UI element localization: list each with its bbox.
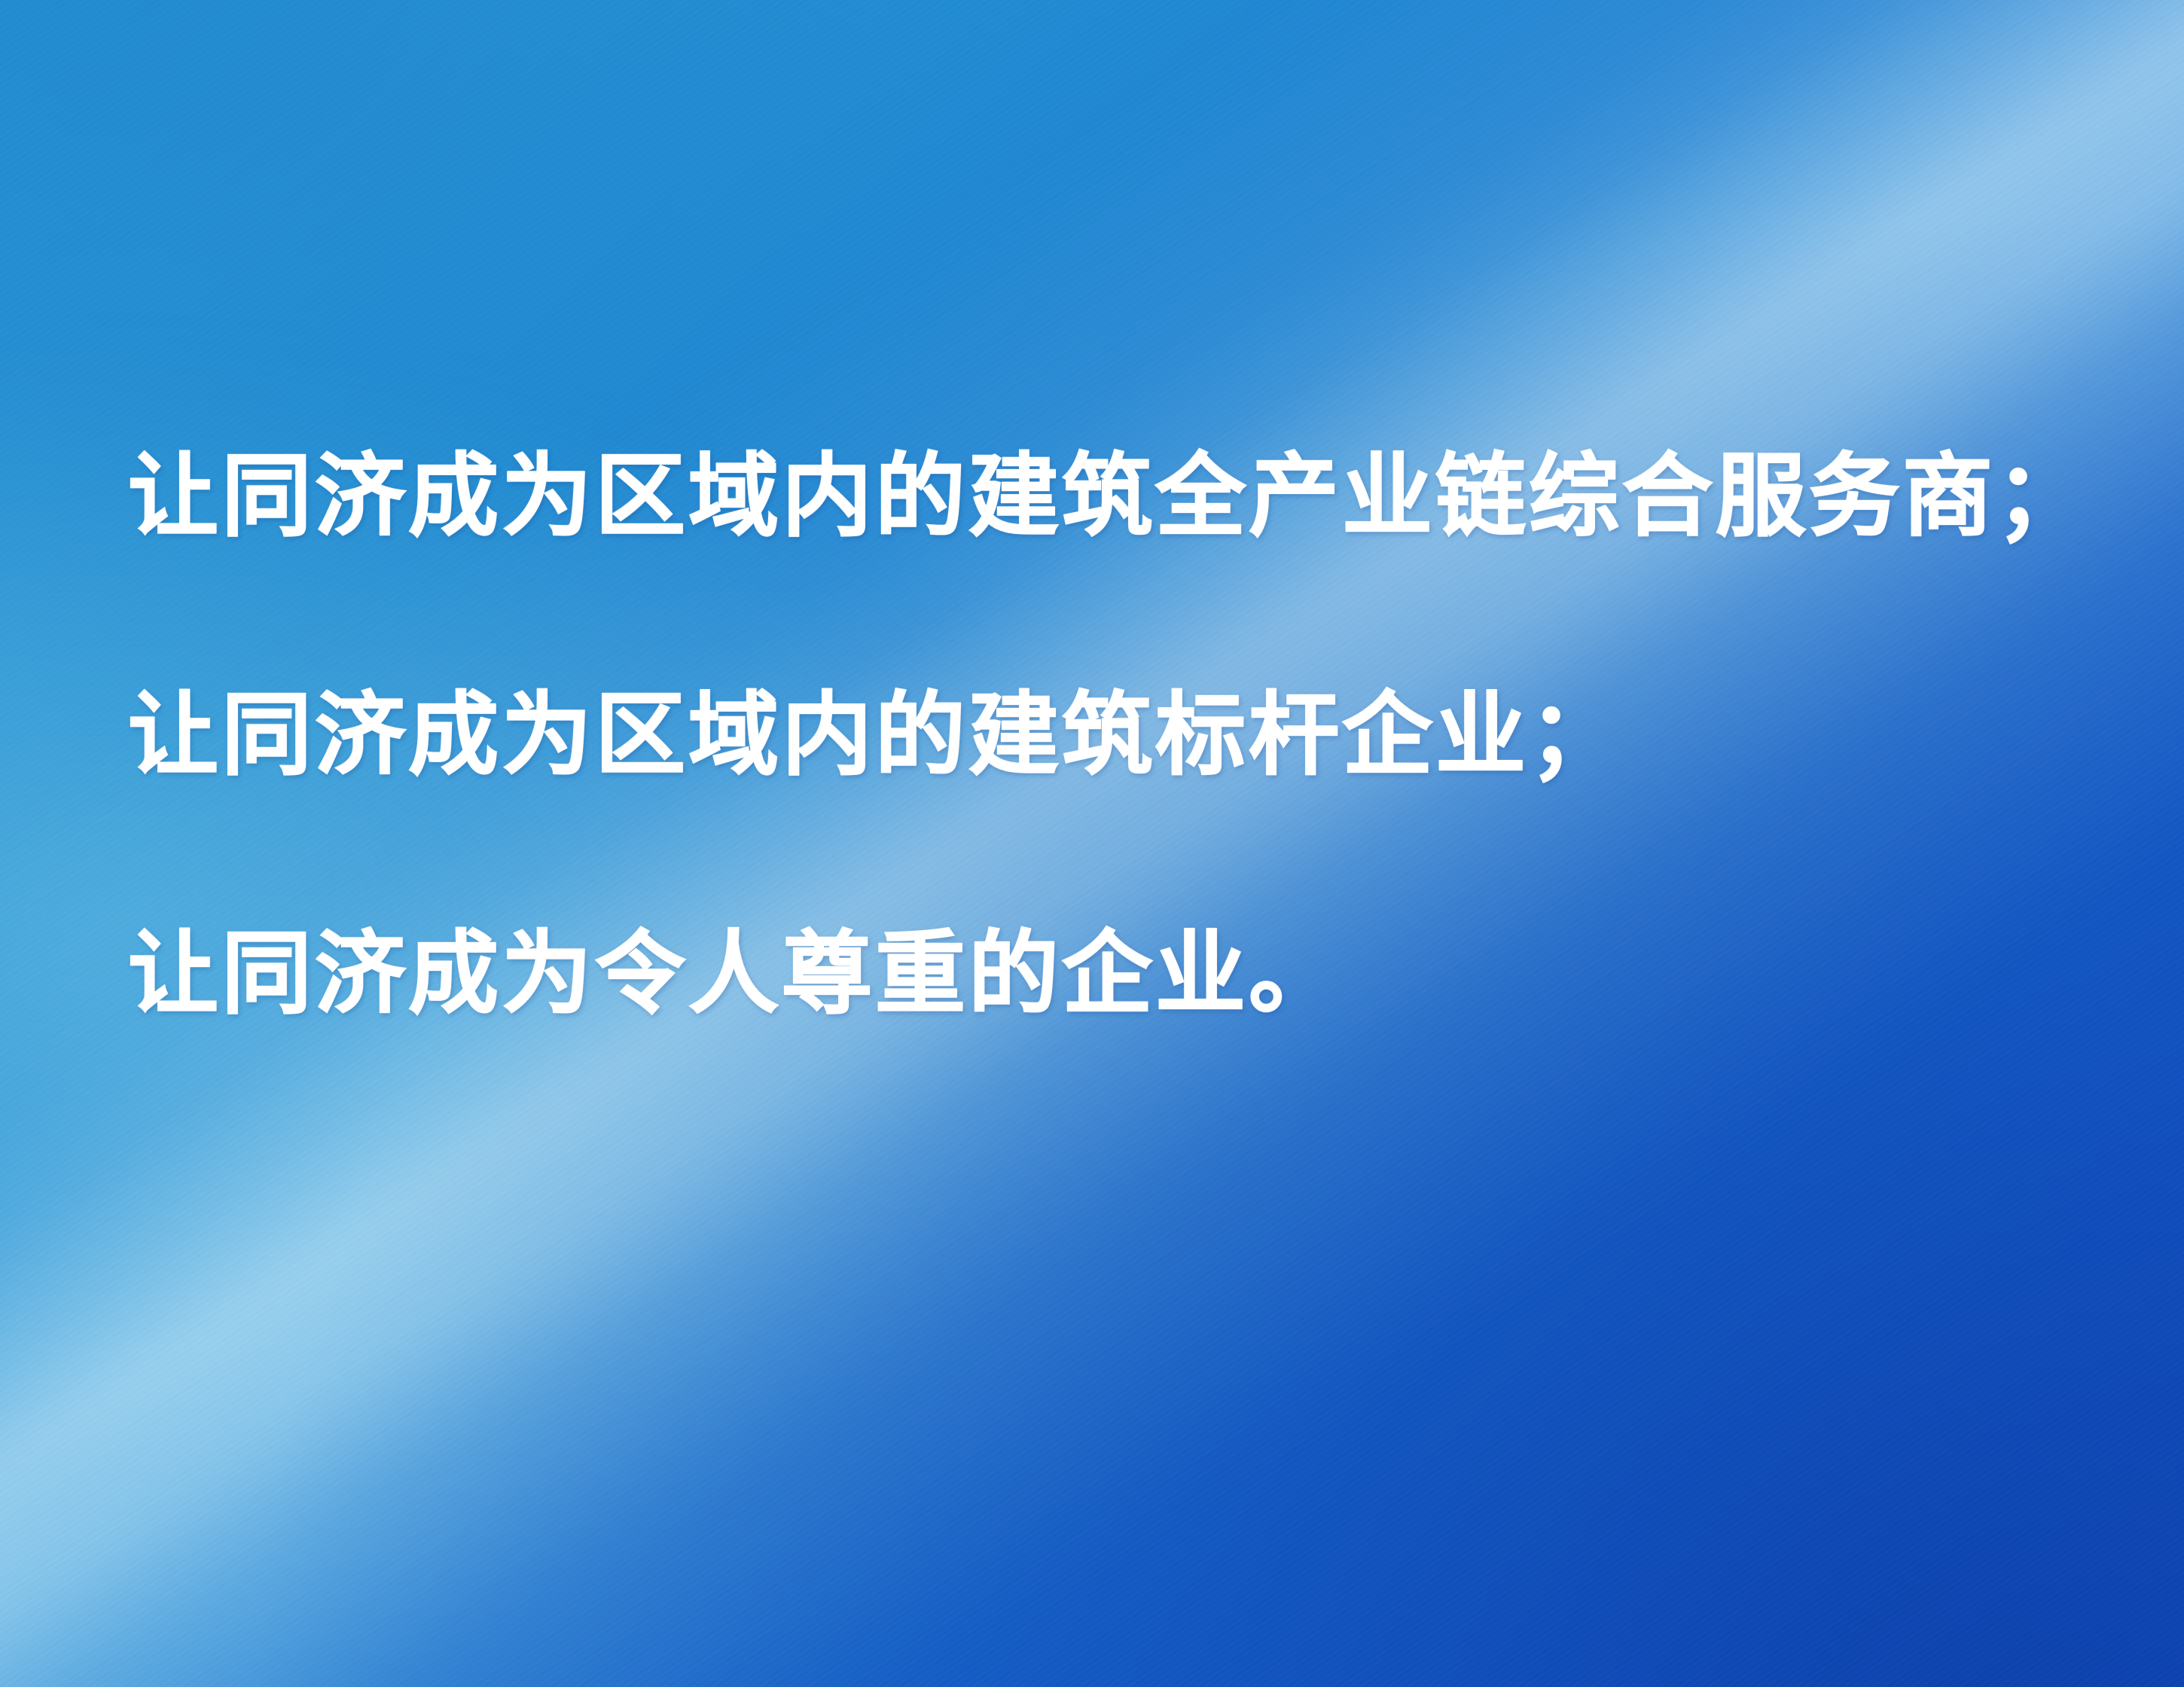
slide-text-line-2: 让同济成为区域内的建筑标杆企业；	[128, 691, 2086, 781]
slide-text-line-1: 让同济成为区域内的建筑全产业链综合服务商；	[128, 452, 2086, 542]
slide-text-block: 让同济成为区域内的建筑全产业链综合服务商； 让同济成为区域内的建筑标杆企业； 让…	[128, 452, 2086, 1020]
slide-canvas: 让同济成为区域内的建筑全产业链综合服务商； 让同济成为区域内的建筑标杆企业； 让…	[0, 0, 2184, 1687]
slide-text-line-3: 让同济成为令人尊重的企业。	[128, 929, 2086, 1020]
